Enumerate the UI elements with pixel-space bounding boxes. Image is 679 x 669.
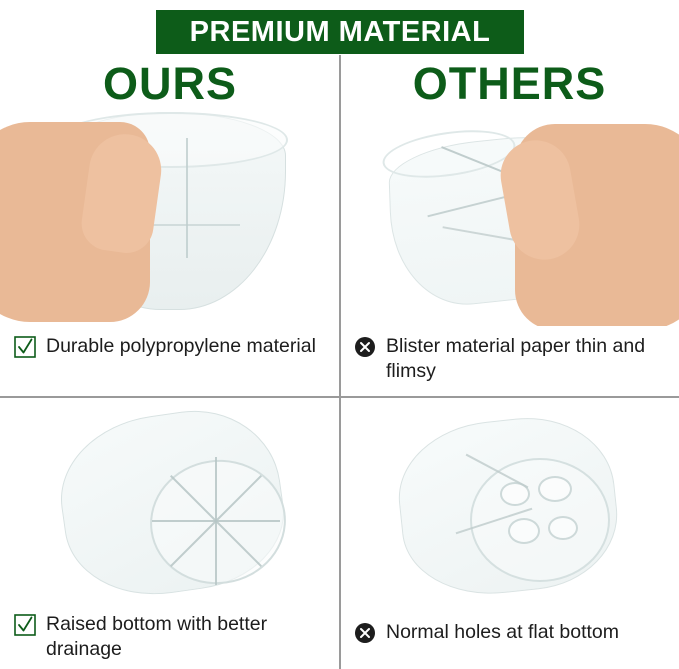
column-title-ours: OURS [0, 58, 340, 110]
caption-top-left: Durable polypropylene material [14, 334, 324, 359]
caption-top-right-text: Blister material paper thin and flimsy [386, 334, 672, 384]
premium-material-banner: PREMIUM MATERIAL [156, 10, 524, 54]
caption-top-right: Blister material paper thin and flimsy [354, 334, 672, 384]
drain-hole-4 [548, 516, 578, 540]
column-title-others: OTHERS [340, 58, 679, 110]
banner-label: PREMIUM MATERIAL [190, 16, 491, 49]
caption-bottom-left-text: Raised bottom with better drainage [46, 612, 324, 662]
photo-hand-squeezing-thin-cup [342, 104, 679, 326]
check-icon [14, 336, 36, 358]
comparison-infographic: PREMIUM MATERIAL OURS OTHERS [0, 0, 679, 669]
photo-hand-holding-sturdy-pot [0, 104, 338, 326]
drainage-spoke-5 [152, 520, 216, 522]
photo-cup-flat-bottom-holes [342, 400, 679, 614]
drainage-spoke-3 [215, 521, 217, 585]
caption-top-left-text: Durable polypropylene material [46, 334, 316, 359]
vertical-divider [339, 55, 341, 669]
check-icon [14, 614, 36, 636]
drain-hole-2 [538, 476, 572, 502]
caption-bottom-left: Raised bottom with better drainage [14, 612, 324, 662]
caption-bottom-right: Normal holes at flat bottom [354, 620, 674, 645]
photo-pot-raised-bottom [0, 400, 338, 608]
caption-bottom-right-text: Normal holes at flat bottom [386, 620, 619, 645]
cross-icon [354, 336, 376, 358]
drain-hole-3 [508, 518, 540, 544]
horizontal-divider [0, 396, 679, 398]
pot-ridge-vertical [186, 138, 188, 258]
drainage-spoke-7 [215, 457, 217, 521]
drainage-spoke-1 [216, 520, 280, 522]
cross-icon [354, 622, 376, 644]
